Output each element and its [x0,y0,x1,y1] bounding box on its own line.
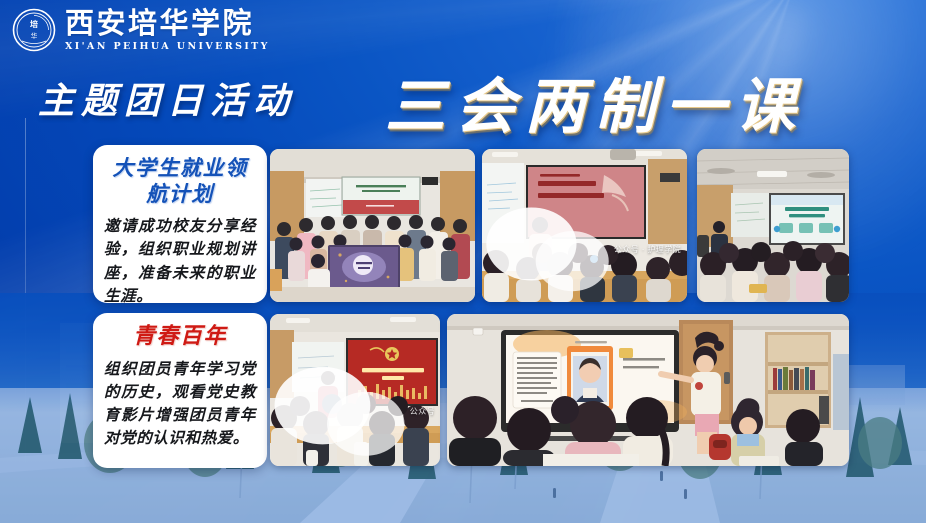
card-centenary-title: 青春百年 [104,323,256,351]
wechat-icon [270,360,407,463]
card-employment: 大学生就业领航计划 邀请成功校友分享经验，组织职业规划讲座，准备未来的职业生涯。 [93,145,267,303]
slide-subtitle: 主题团日活动 [38,72,296,124]
photo-lecture-red: 公众号 · 护理学院 [482,149,687,302]
photo-lecture-red-watermark: 公众号 · 护理学院 [482,201,681,298]
photo-lecture-red-watermark-text: 公众号 · 护理学院 [614,244,681,255]
card-employment-title: 大学生就业领航计划 [104,155,256,208]
photo-group-banner [270,149,475,302]
university-logo: 培 华 西安培华学院 XI'AN PEIHUA UNIVERSITY [12,8,270,52]
photo-twosessions: 公众号 [270,314,440,466]
slide-main-title: 三会两制一课 [385,58,805,145]
svg-text:培: 培 [30,19,38,29]
presentation-slide: 培 华 西安培华学院 XI'AN PEIHUA UNIVERSITY 主题团日活… [0,0,926,523]
photo-twosessions-watermark: 公众号 [270,360,435,463]
photo-presentation [447,314,849,466]
card-centenary: 青春百年 组织团员青年学习党的历史，观看党史教育影片增强团员青年对党的认识和热爱… [93,313,267,468]
university-name-cn: 西安培华学院 [65,9,270,38]
svg-text:华: 华 [31,31,38,40]
university-name-en: XI'AN PEIHUA UNIVERSITY [65,42,270,52]
photo-twosessions-watermark-text: 公众号 [410,406,435,417]
wechat-icon [482,201,611,298]
university-seal-icon: 培 华 [12,8,56,52]
card-employment-body: 邀请成功校友分享经验，组织职业规划讲座，准备未来的职业生涯。 [104,214,256,304]
card-centenary-body: 组织团员青年学习党的历史，观看党史教育影片增强团员青年对党的认识和热爱。 [104,357,256,450]
photo-lecture-green [697,149,849,302]
